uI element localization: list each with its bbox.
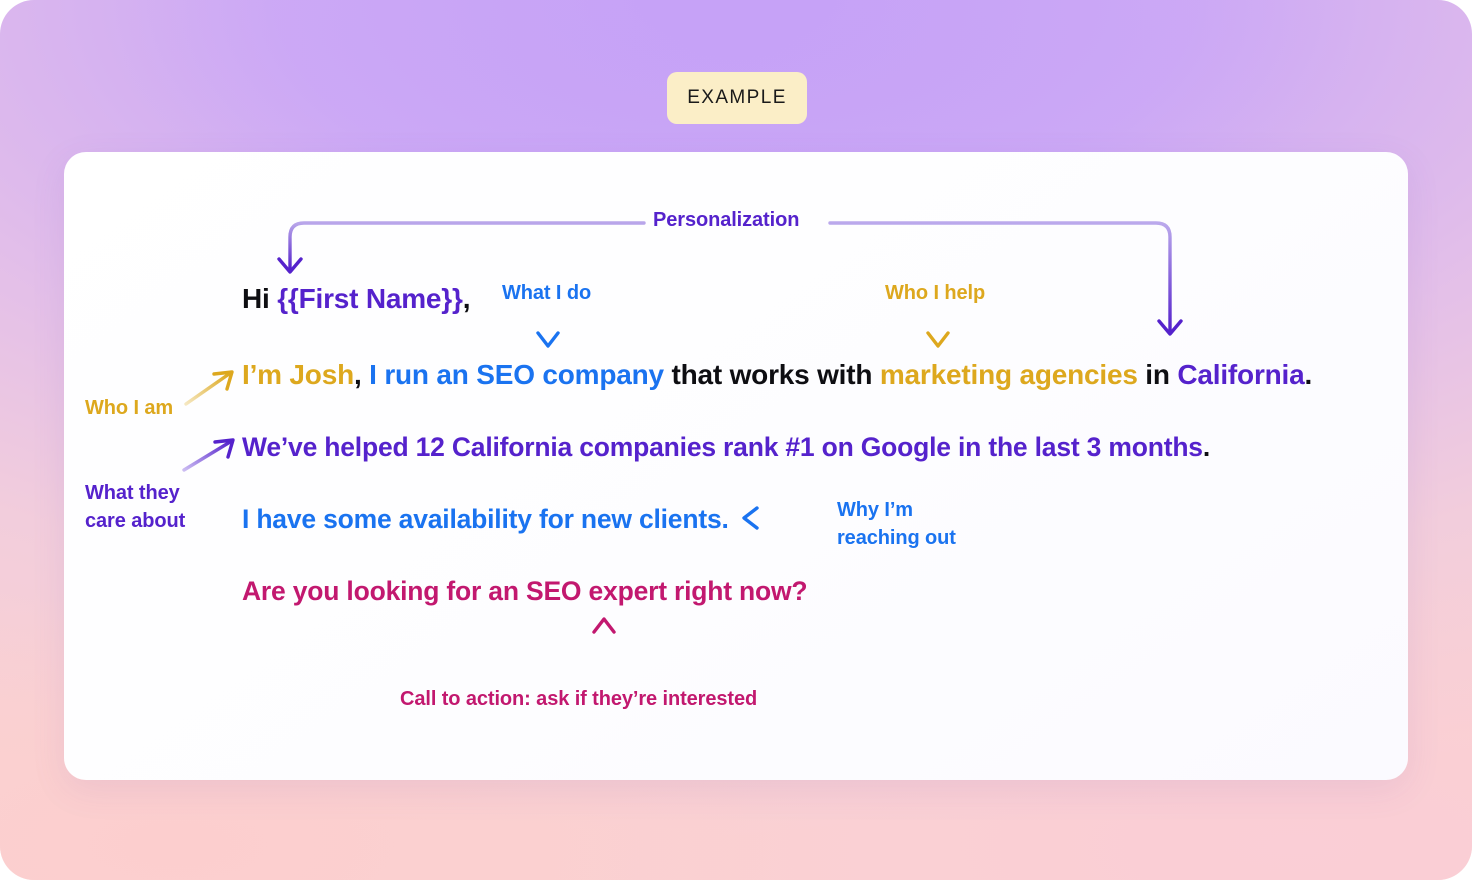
annotation-call-to-action: Call to action: ask if they’re intereste… — [400, 688, 757, 711]
annotation-what-they-care-about: What they care about — [85, 479, 245, 535]
pitch-in: in — [1138, 359, 1178, 390]
personalization-right-connector — [830, 223, 1181, 334]
email-line-proof: We’ve helped 12 California companies ran… — [242, 432, 1210, 463]
who-i-am-arrow — [186, 372, 232, 404]
greeting-merge-token: {{First Name}} — [277, 283, 463, 314]
screenshot-root: EXAMPLE — [0, 0, 1472, 880]
annotation-personalization: Personalization — [653, 209, 799, 232]
greeting-plain-after: , — [463, 283, 471, 314]
pitch-mid: that works with — [664, 359, 880, 390]
proof-text: We’ve helped 12 California companies ran… — [242, 432, 1203, 462]
annotation-arrows-layer — [64, 152, 1408, 780]
greeting-plain-before: Hi — [242, 283, 277, 314]
annotation-why-reaching-out-line2: reaching out — [837, 524, 1037, 552]
pitch-what-i-do: I run an SEO company — [369, 359, 664, 390]
pitch-who-i-help: marketing agencies — [880, 359, 1138, 390]
annotation-why-reaching-out-line1: Why I’m — [837, 496, 1037, 524]
example-badge: EXAMPLE — [667, 72, 807, 124]
pitch-who-i-am: I’m Josh — [242, 359, 354, 390]
why-reaching-out-arrow — [744, 508, 821, 528]
pitch-comma: , — [354, 359, 369, 390]
annotation-what-they-care-about-line2: care about — [85, 507, 245, 535]
annotation-who-i-help: Who I help — [885, 282, 985, 305]
example-badge-label: EXAMPLE — [687, 87, 787, 109]
what-they-care-about-arrow — [184, 440, 233, 470]
annotation-why-reaching-out: Why I’m reaching out — [837, 496, 1037, 552]
proof-period: . — [1203, 432, 1210, 462]
annotation-what-i-do: What I do — [502, 282, 591, 305]
pitch-period: . — [1305, 359, 1313, 390]
who-i-help-arrow — [928, 312, 948, 346]
email-line-pitch: I’m Josh, I run an SEO company that work… — [242, 359, 1312, 391]
email-line-availability: I have some availability for new clients… — [242, 504, 729, 535]
pitch-location: California — [1177, 359, 1304, 390]
email-line-cta: Are you looking for an SEO expert right … — [242, 576, 807, 607]
email-line-greeting: Hi {{First Name}}, — [242, 283, 470, 315]
email-example-card: Personalization What I do Who I help Who… — [64, 152, 1408, 780]
annotation-who-i-am: Who I am — [85, 397, 173, 420]
personalization-left-connector — [279, 223, 644, 272]
call-to-action-arrow — [594, 619, 614, 677]
annotation-what-they-care-about-line1: What they — [85, 479, 245, 507]
what-i-do-arrow — [538, 312, 558, 346]
